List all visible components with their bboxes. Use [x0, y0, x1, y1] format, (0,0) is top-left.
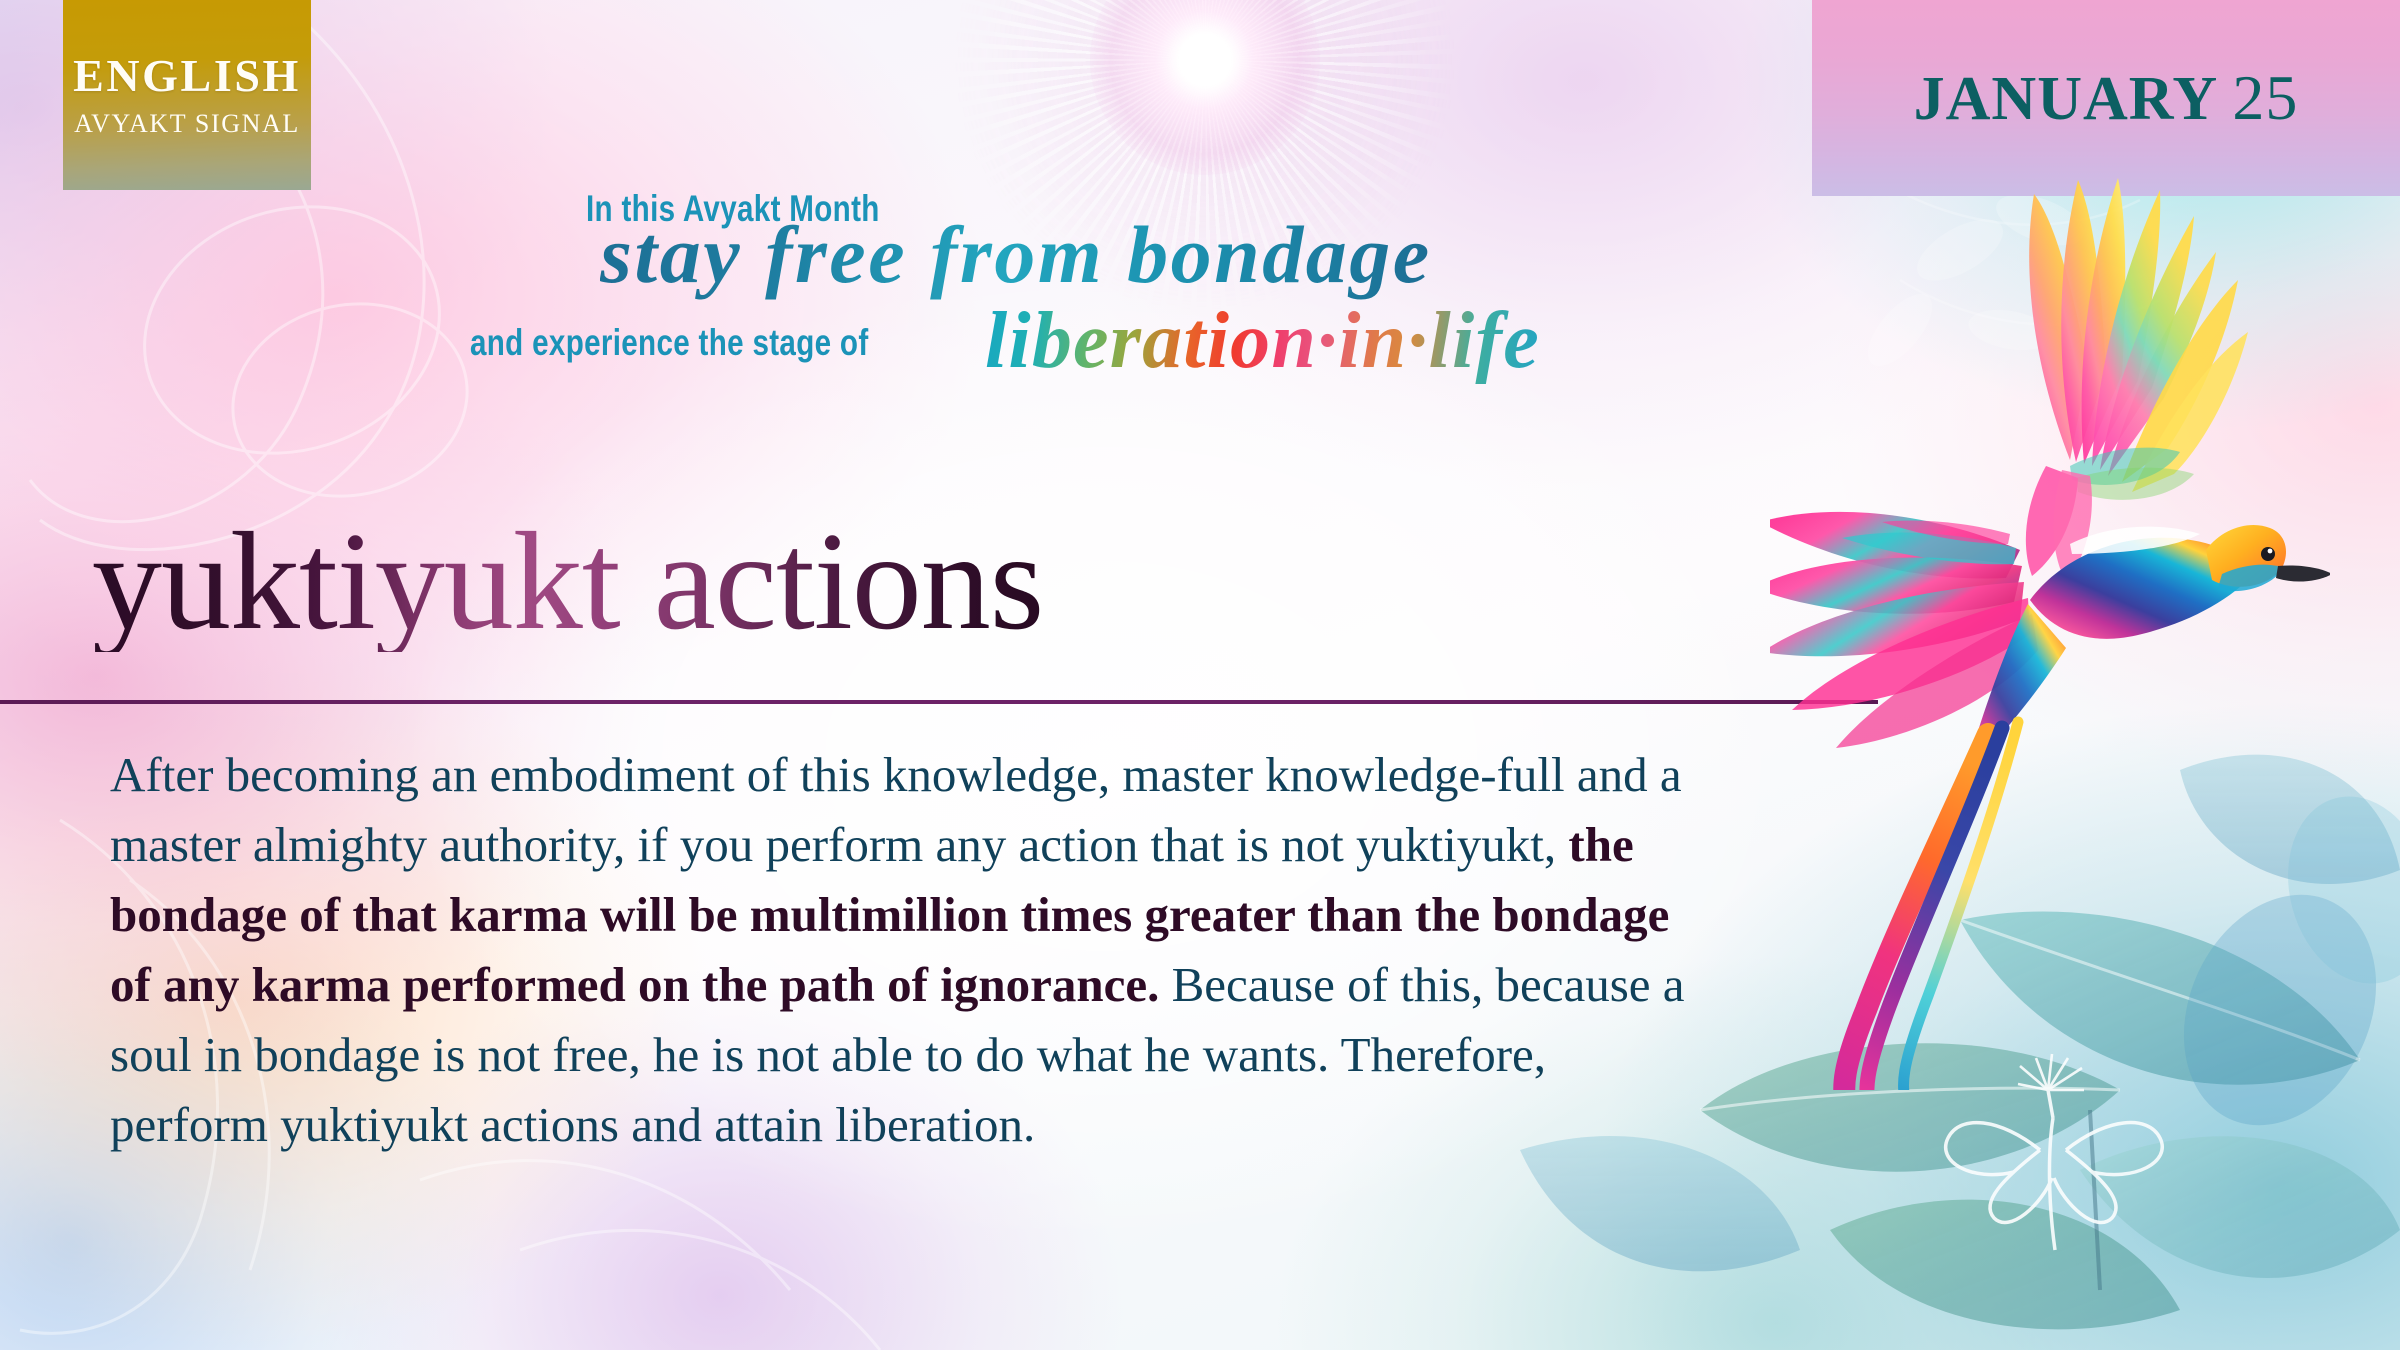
- bird-tail: [1844, 722, 2018, 1090]
- bird-upper-wing: [2026, 178, 2248, 582]
- headline-line-4-rainbow: liberation·in·life: [985, 296, 1540, 387]
- bird-head: [2206, 525, 2330, 591]
- badge-language-label: ENGLISH: [73, 53, 301, 99]
- language-badge: ENGLISH AVYAKT SIGNAL: [63, 0, 311, 190]
- headline-line-2-script: stay free from bondage: [600, 208, 1432, 302]
- title-divider: [0, 700, 1878, 704]
- badge-subtitle-label: AVYAKT SIGNAL: [74, 111, 300, 137]
- rainbow-bird-illustration: [1770, 130, 2330, 1090]
- date-label: JANUARY 25: [1914, 61, 2299, 135]
- page-title: yuktiyukt actions: [92, 512, 1043, 652]
- body-part-1: After becoming an embodiment of this kno…: [110, 747, 1682, 872]
- body-text: After becoming an embodiment of this kno…: [110, 740, 1710, 1160]
- avyakt-signal-card: ENGLISH AVYAKT SIGNAL JANUARY 25 In this…: [0, 0, 2400, 1350]
- date-day: 25: [2232, 62, 2298, 133]
- headline-line-3: and experience the stage of: [470, 322, 869, 364]
- headline-block: In this Avyakt Month stay free from bond…: [0, 196, 1800, 456]
- date-month: JANUARY: [1914, 65, 2216, 133]
